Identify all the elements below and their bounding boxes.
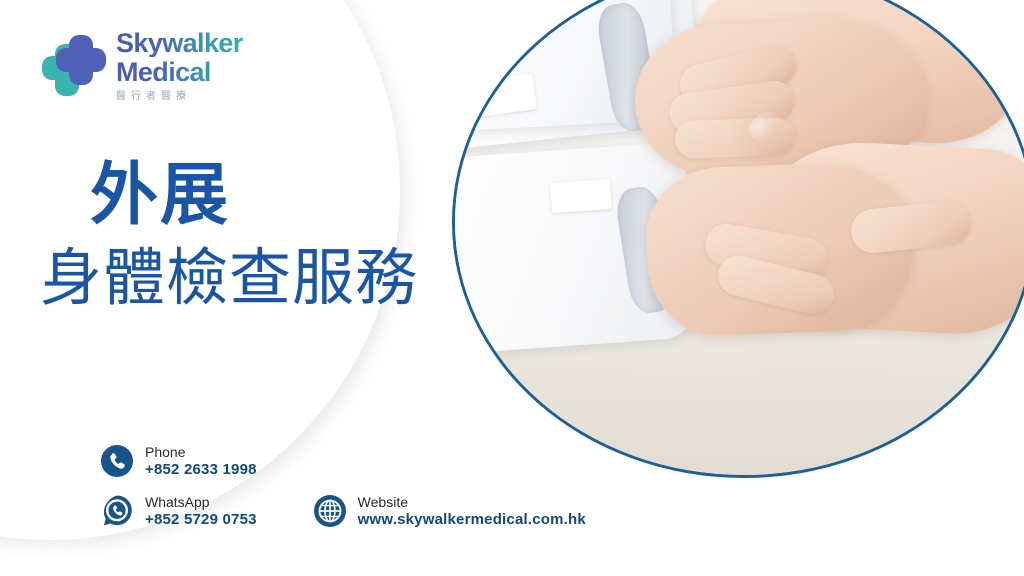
brand-wordmark: Skywalker Medical 醫行者醫療 (116, 30, 243, 102)
hero-photo (452, 0, 1024, 478)
contact-value-website: www.skywalkermedical.com.hk (358, 511, 586, 529)
brand-name-chinese: 醫行者醫療 (116, 92, 243, 102)
double-cross-icon (42, 32, 106, 100)
contact-row-secondary: WhatsApp +852 5729 0753 (100, 494, 586, 528)
contact-text-website: Website www.skywalkermedical.com.hk (358, 494, 586, 528)
brand-logo[interactable]: Skywalker Medical 醫行者醫療 (42, 30, 243, 102)
contact-value-phone: +852 2633 1998 (145, 461, 257, 479)
contact-row-phone: Phone +852 2633 1998 (100, 444, 586, 478)
brand-name-line1: Skywalker (116, 30, 243, 57)
cross-blue-icon (42, 32, 106, 100)
headline-line2: 身體檢查服務 (40, 243, 418, 314)
coat-tag-lower (550, 179, 612, 213)
contact-label-website: Website (358, 494, 586, 511)
contact-block: Phone +852 2633 1998 WhatsApp +852 (100, 444, 586, 528)
page-title: 外展 身體檢查服務 (40, 160, 418, 315)
contact-item-whatsapp[interactable]: WhatsApp +852 5729 0753 (100, 494, 257, 528)
contact-label-whatsapp: WhatsApp (145, 494, 257, 511)
contact-label-phone: Phone (145, 444, 257, 461)
globe-icon (313, 494, 347, 528)
photo-background (455, 0, 1024, 475)
whatsapp-icon (100, 494, 134, 528)
contact-item-website[interactable]: Website www.skywalkermedical.com.hk (313, 494, 586, 528)
brand-name-line2: Medical (116, 59, 243, 86)
contact-text-phone: Phone +852 2633 1998 (145, 444, 257, 478)
contact-item-phone[interactable]: Phone +852 2633 1998 (100, 444, 257, 478)
contact-value-whatsapp: +852 5729 0753 (145, 511, 257, 529)
contact-text-whatsapp: WhatsApp +852 5729 0753 (145, 494, 257, 528)
heart-highlight (743, 105, 787, 147)
promo-banner: Skywalker Medical 醫行者醫療 外展 身體檢查服務 Phone … (0, 0, 1024, 576)
phone-icon (100, 444, 134, 478)
headline-line1: 外展 (90, 160, 418, 231)
red-heart (711, 75, 863, 227)
